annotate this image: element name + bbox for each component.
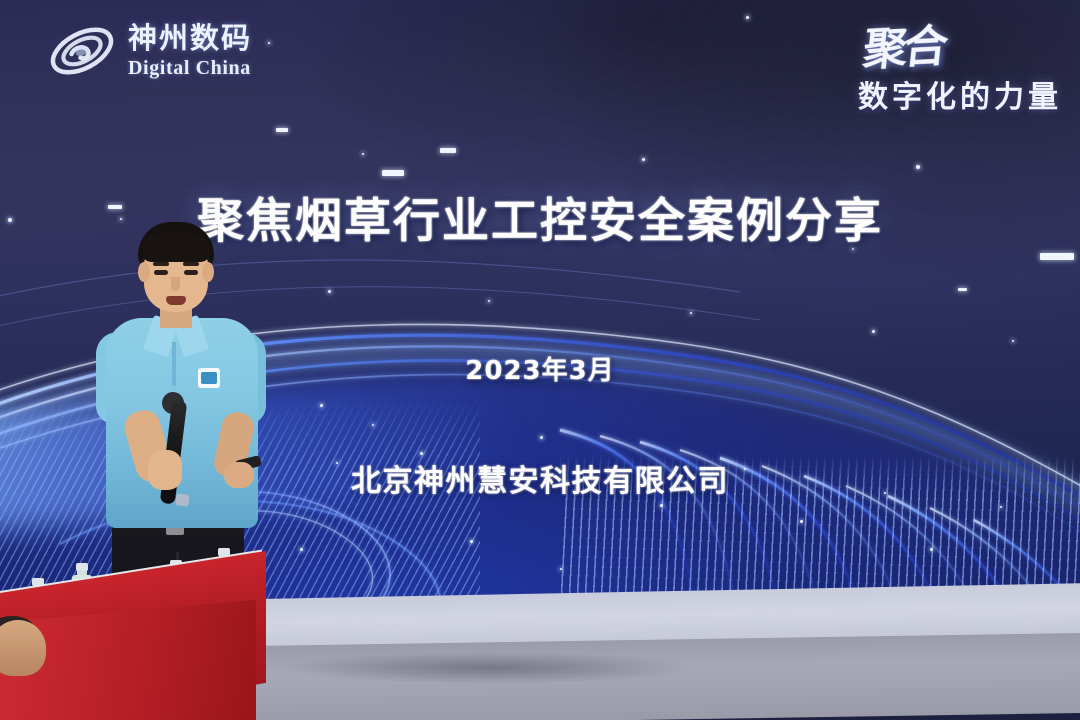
speaker-right-eye: [184, 270, 198, 275]
speaker-nose: [171, 277, 180, 291]
speaker-left-hand: [148, 450, 182, 490]
brand-logo: 神州数码 Digital China: [44, 18, 252, 84]
conference-photo: 神州数码 Digital China 聚合 数字化的力量 聚焦烟草行业工控安全案…: [0, 0, 1080, 720]
spiral-swirl-logo-icon: [44, 18, 120, 84]
stage-floor-shadow: [280, 652, 700, 684]
speaker-shirt-placket: [172, 342, 176, 386]
speaker-right-hand: [224, 462, 254, 488]
slogan-subtitle: 数字化的力量: [858, 72, 1062, 116]
speaker-chest-badge-inner-icon: [201, 372, 217, 384]
event-slogan: 聚合 数字化的力量: [858, 12, 1062, 116]
speaker-hair-front: [142, 232, 210, 262]
speaker-left-eye: [154, 270, 168, 275]
speaker-right-eyebrow: [183, 262, 199, 266]
speaker-left-ear: [138, 262, 150, 282]
brand-name-en: Digital China: [128, 58, 252, 78]
speaker-left-eyebrow: [153, 262, 169, 266]
speaker-mouth: [166, 296, 186, 305]
slogan-brush-text: 聚合: [860, 10, 947, 78]
microphone-base: [175, 493, 189, 506]
brand-logo-text: 神州数码 Digital China: [128, 24, 252, 78]
brand-name-cn: 神州数码: [128, 24, 252, 53]
speaker-right-ear: [202, 262, 214, 282]
